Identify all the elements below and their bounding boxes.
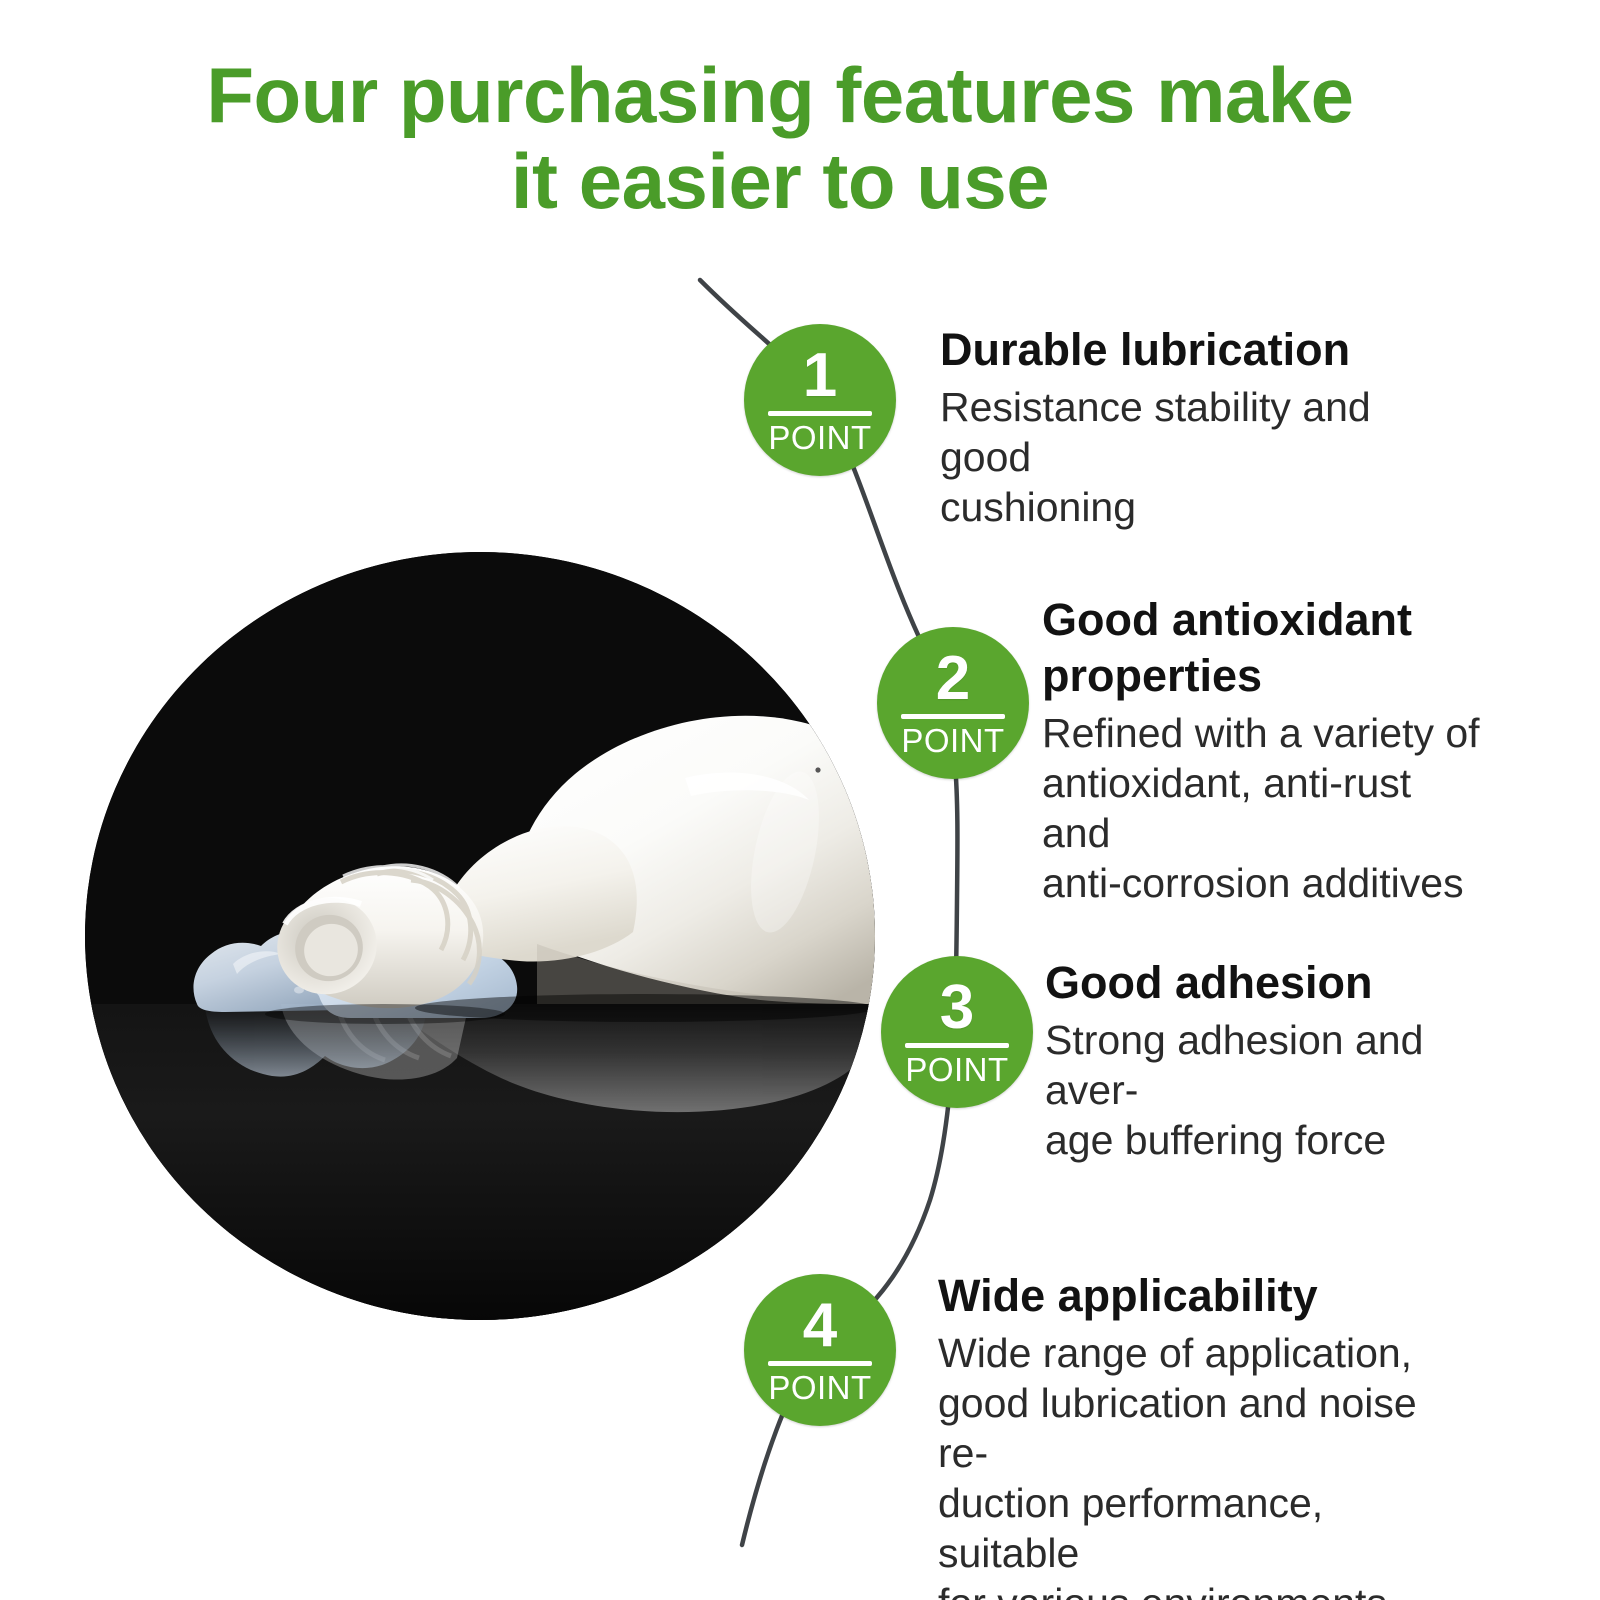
feature-body-1: Resistance stability and good cushioning	[940, 382, 1460, 532]
feature-text-2: Good antioxidant properties Refined with…	[1042, 592, 1482, 908]
point-badge-1: 1 POINT	[744, 324, 896, 476]
point-badge-4: 4 POINT	[744, 1274, 896, 1426]
feature-body-4: Wide range of application, good lubricat…	[938, 1328, 1458, 1600]
feature-text-3: Good adhesion Strong adhesion and aver- …	[1045, 955, 1465, 1165]
point-divider-3	[905, 1043, 1009, 1048]
point-number-3: 3	[940, 978, 974, 1038]
feature-body-2: Refined with a variety of antioxidant, a…	[1042, 708, 1482, 908]
feature-heading-3: Good adhesion	[1045, 955, 1465, 1011]
feature-heading-2: Good antioxidant properties	[1042, 592, 1482, 704]
point-divider-2	[901, 714, 1005, 719]
point-badge-3: 3 POINT	[881, 956, 1033, 1108]
point-number-4: 4	[803, 1296, 837, 1356]
feature-heading-4: Wide applicability	[938, 1268, 1458, 1324]
point-number-2: 2	[936, 649, 970, 709]
page-title-line-2: it easier to use	[0, 138, 1560, 224]
point-label-1: POINT	[768, 421, 871, 455]
infographic-page: Four purchasing features make it easier …	[0, 0, 1600, 1600]
point-badge-2: 2 POINT	[877, 627, 1029, 779]
point-label-3: POINT	[905, 1053, 1008, 1087]
point-divider-1	[768, 411, 872, 416]
feature-text-1: Durable lubrication Resistance stability…	[940, 322, 1460, 532]
point-label-4: POINT	[768, 1371, 871, 1405]
page-title-line-1: Four purchasing features make	[0, 52, 1560, 138]
point-label-2: POINT	[901, 724, 1004, 758]
product-photo	[85, 552, 875, 1320]
feature-body-3: Strong adhesion and aver- age buffering …	[1045, 1015, 1465, 1165]
point-number-1: 1	[803, 346, 837, 406]
page-title: Four purchasing features make it easier …	[0, 52, 1560, 224]
feature-heading-1: Durable lubrication	[940, 322, 1460, 378]
feature-text-4: Wide applicability Wide range of applica…	[938, 1268, 1458, 1600]
point-divider-4	[768, 1361, 872, 1366]
